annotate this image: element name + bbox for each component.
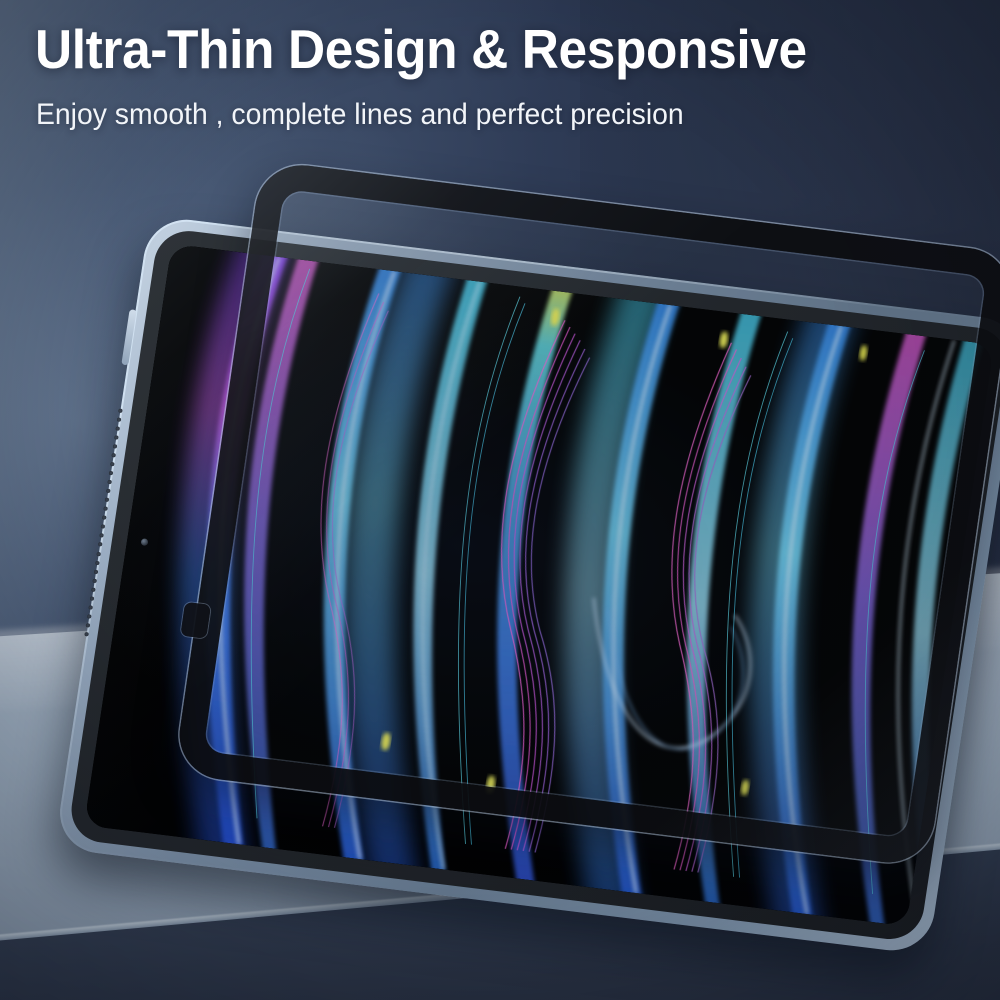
- product-marketing-banner: Ultra-Thin Design & Responsive Enjoy smo…: [0, 0, 1000, 1000]
- page-title: Ultra-Thin Design & Responsive: [35, 19, 877, 79]
- page-subtitle: Enjoy smooth , complete lines and perfec…: [36, 96, 887, 134]
- scene-vignette: [0, 0, 1000, 1000]
